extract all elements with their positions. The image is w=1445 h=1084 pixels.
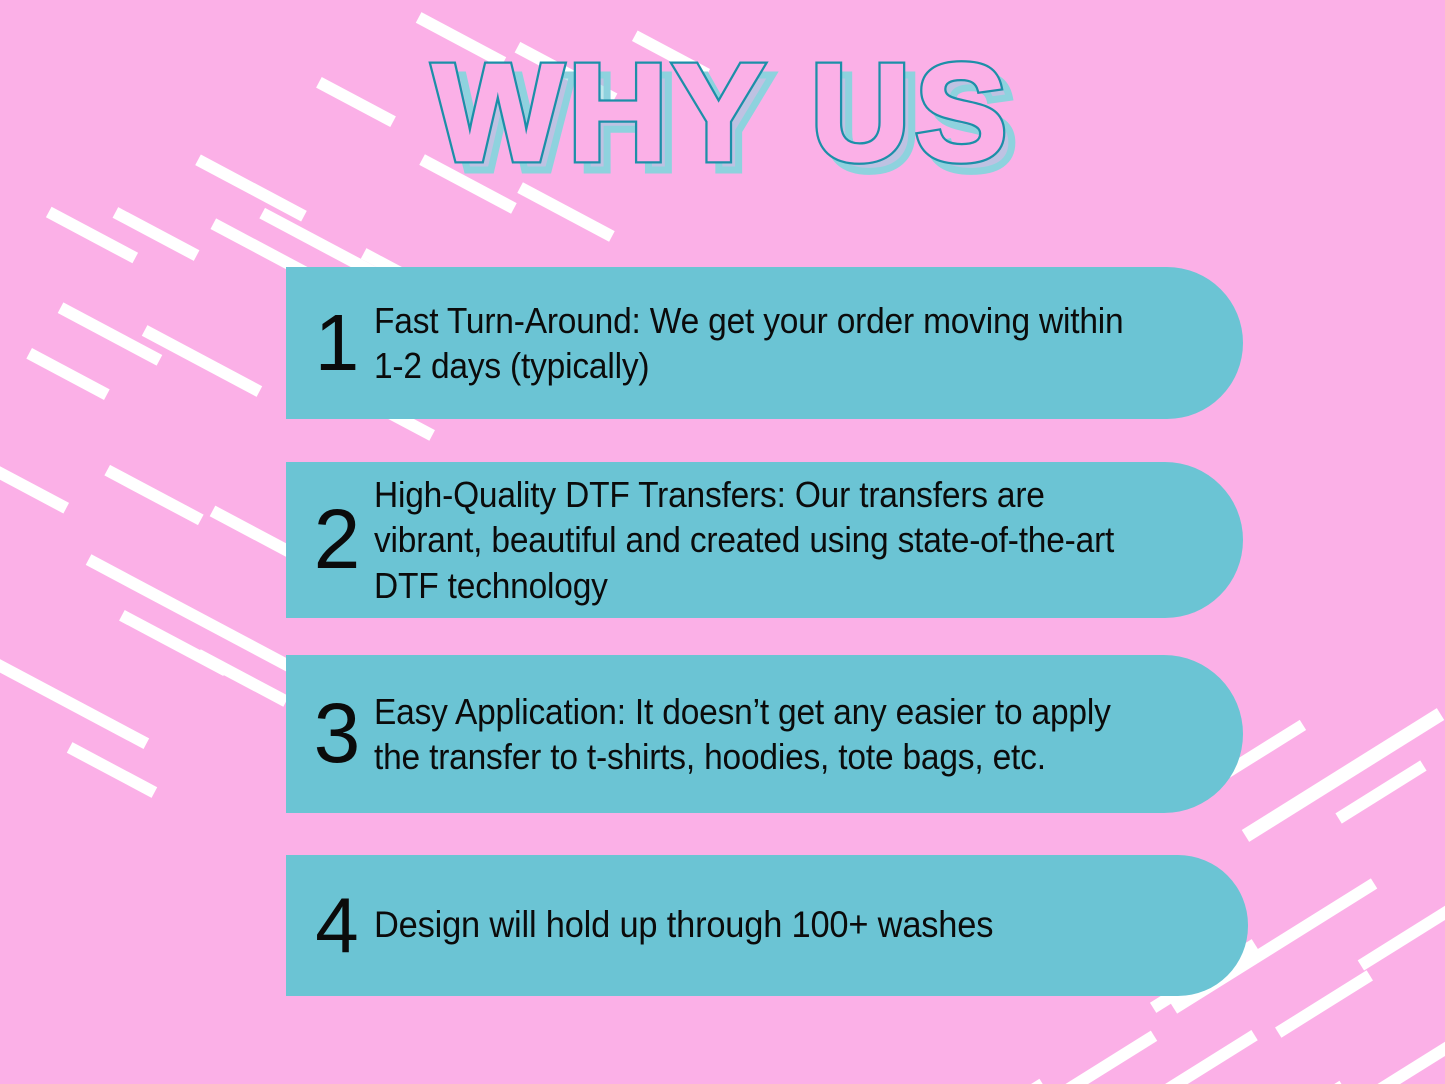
decorative-dash (119, 610, 229, 676)
decorative-dash (1275, 970, 1373, 1037)
decorative-dash (26, 348, 109, 400)
decorative-dash (67, 742, 157, 798)
benefit-card-1: 1 Fast Turn-Around: We get your order mo… (286, 267, 1243, 419)
decorative-dash (0, 621, 149, 749)
benefit-number-2: 2 (300, 502, 374, 578)
benefit-card-3: 3 Easy Application: It doesn’t get any e… (286, 655, 1243, 813)
benefit-text-3: Easy Application: It doesn’t get any eas… (374, 689, 1182, 780)
title-inner-line: WHY US (0, 38, 1445, 188)
benefit-text-1: Fast Turn-Around: We get your order movi… (374, 298, 1182, 389)
decorative-dash (195, 649, 289, 707)
decorative-dash (113, 207, 200, 261)
decorative-dash (0, 432, 69, 513)
benefit-card-4: 4 Design will hold up through 100+ washe… (286, 855, 1248, 996)
decorative-dash (1146, 1030, 1258, 1084)
decorative-dash (58, 302, 163, 365)
benefit-card-2: 2 High-Quality DTF Transfers: Our transf… (286, 462, 1243, 618)
benefit-number-4: 4 (300, 890, 374, 960)
decorative-dash (142, 325, 262, 397)
decorative-dash (1051, 1031, 1157, 1084)
decorative-dash (1358, 891, 1445, 970)
decorative-dash (1335, 760, 1426, 823)
decorative-dash (104, 465, 203, 525)
benefit-number-3: 3 (300, 696, 374, 772)
benefit-text-2: High-Quality DTF Transfers: Our transfer… (374, 472, 1182, 608)
decorative-dash (46, 207, 138, 264)
page-title: WHY US WHY US WHY US WHY US (0, 38, 1445, 188)
benefit-text-4: Design will hold up through 100+ washes (374, 902, 1187, 949)
decorative-dash (946, 1079, 1046, 1084)
decorative-dash (1242, 708, 1444, 842)
benefit-number-1: 1 (300, 307, 374, 379)
why-us-poster: WHY US WHY US WHY US WHY US 1 Fast Turn-… (0, 0, 1445, 1084)
decorative-dash (1354, 1035, 1445, 1084)
